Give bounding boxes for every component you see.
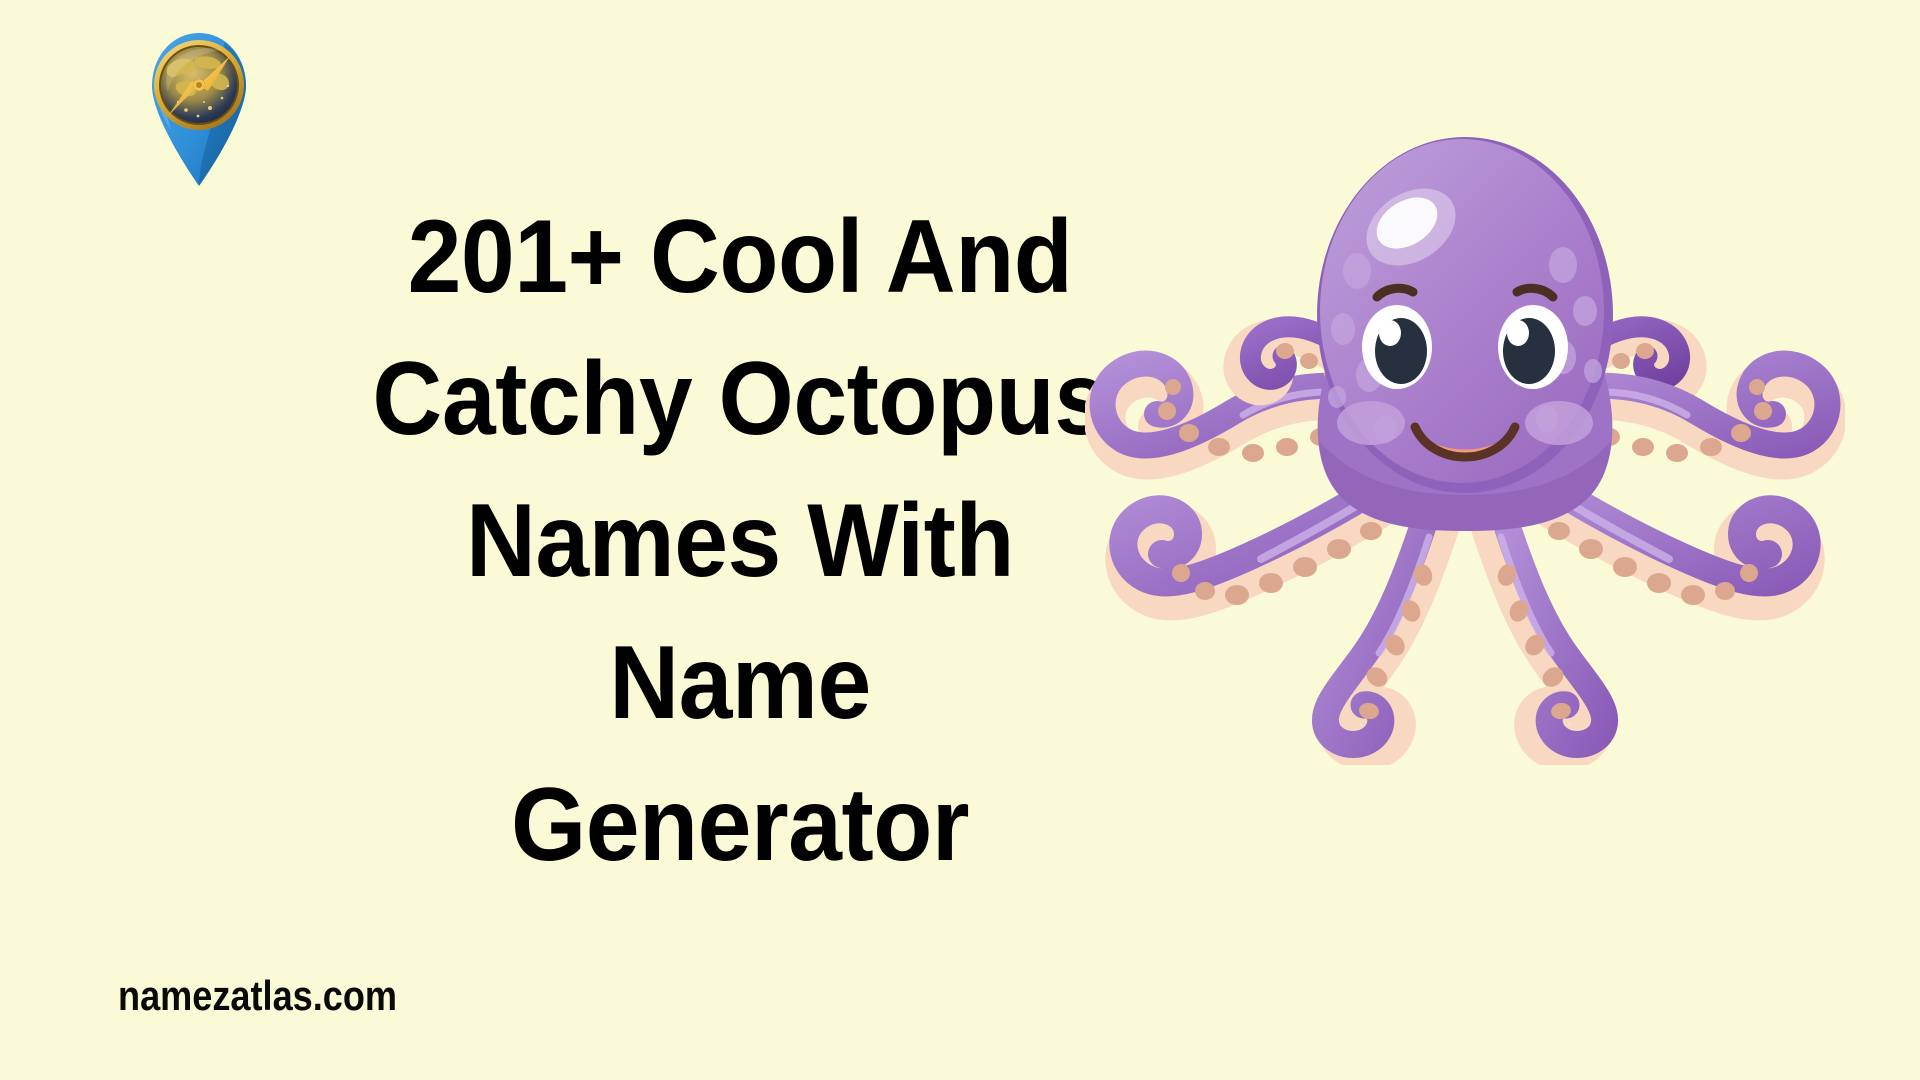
page-title-line-2: Catchy Octopus (331, 328, 1149, 470)
page-title-line-4: Name (331, 612, 1149, 754)
octopus-body (1317, 137, 1613, 531)
brand-logo[interactable] (138, 28, 260, 188)
poster-canvas: 201+ Cool And Catchy Octopus Names With … (0, 0, 1920, 1080)
eye-right (1498, 305, 1568, 389)
page-title: 201+ Cool And Catchy Octopus Names With … (300, 186, 1180, 896)
octopus-svg (1085, 75, 1845, 765)
eye-left (1362, 305, 1432, 389)
cheek-left (1337, 401, 1405, 445)
map-pin-compass-globe-icon (138, 28, 260, 188)
page-title-line-5: Generator (331, 754, 1149, 896)
page-title-line-3: Names With (331, 470, 1149, 612)
cheek-right (1525, 401, 1593, 445)
octopus-illustration (1085, 75, 1845, 765)
page-title-line-1: 201+ Cool And (331, 186, 1149, 328)
site-name: namezatlas.com (118, 972, 397, 1020)
